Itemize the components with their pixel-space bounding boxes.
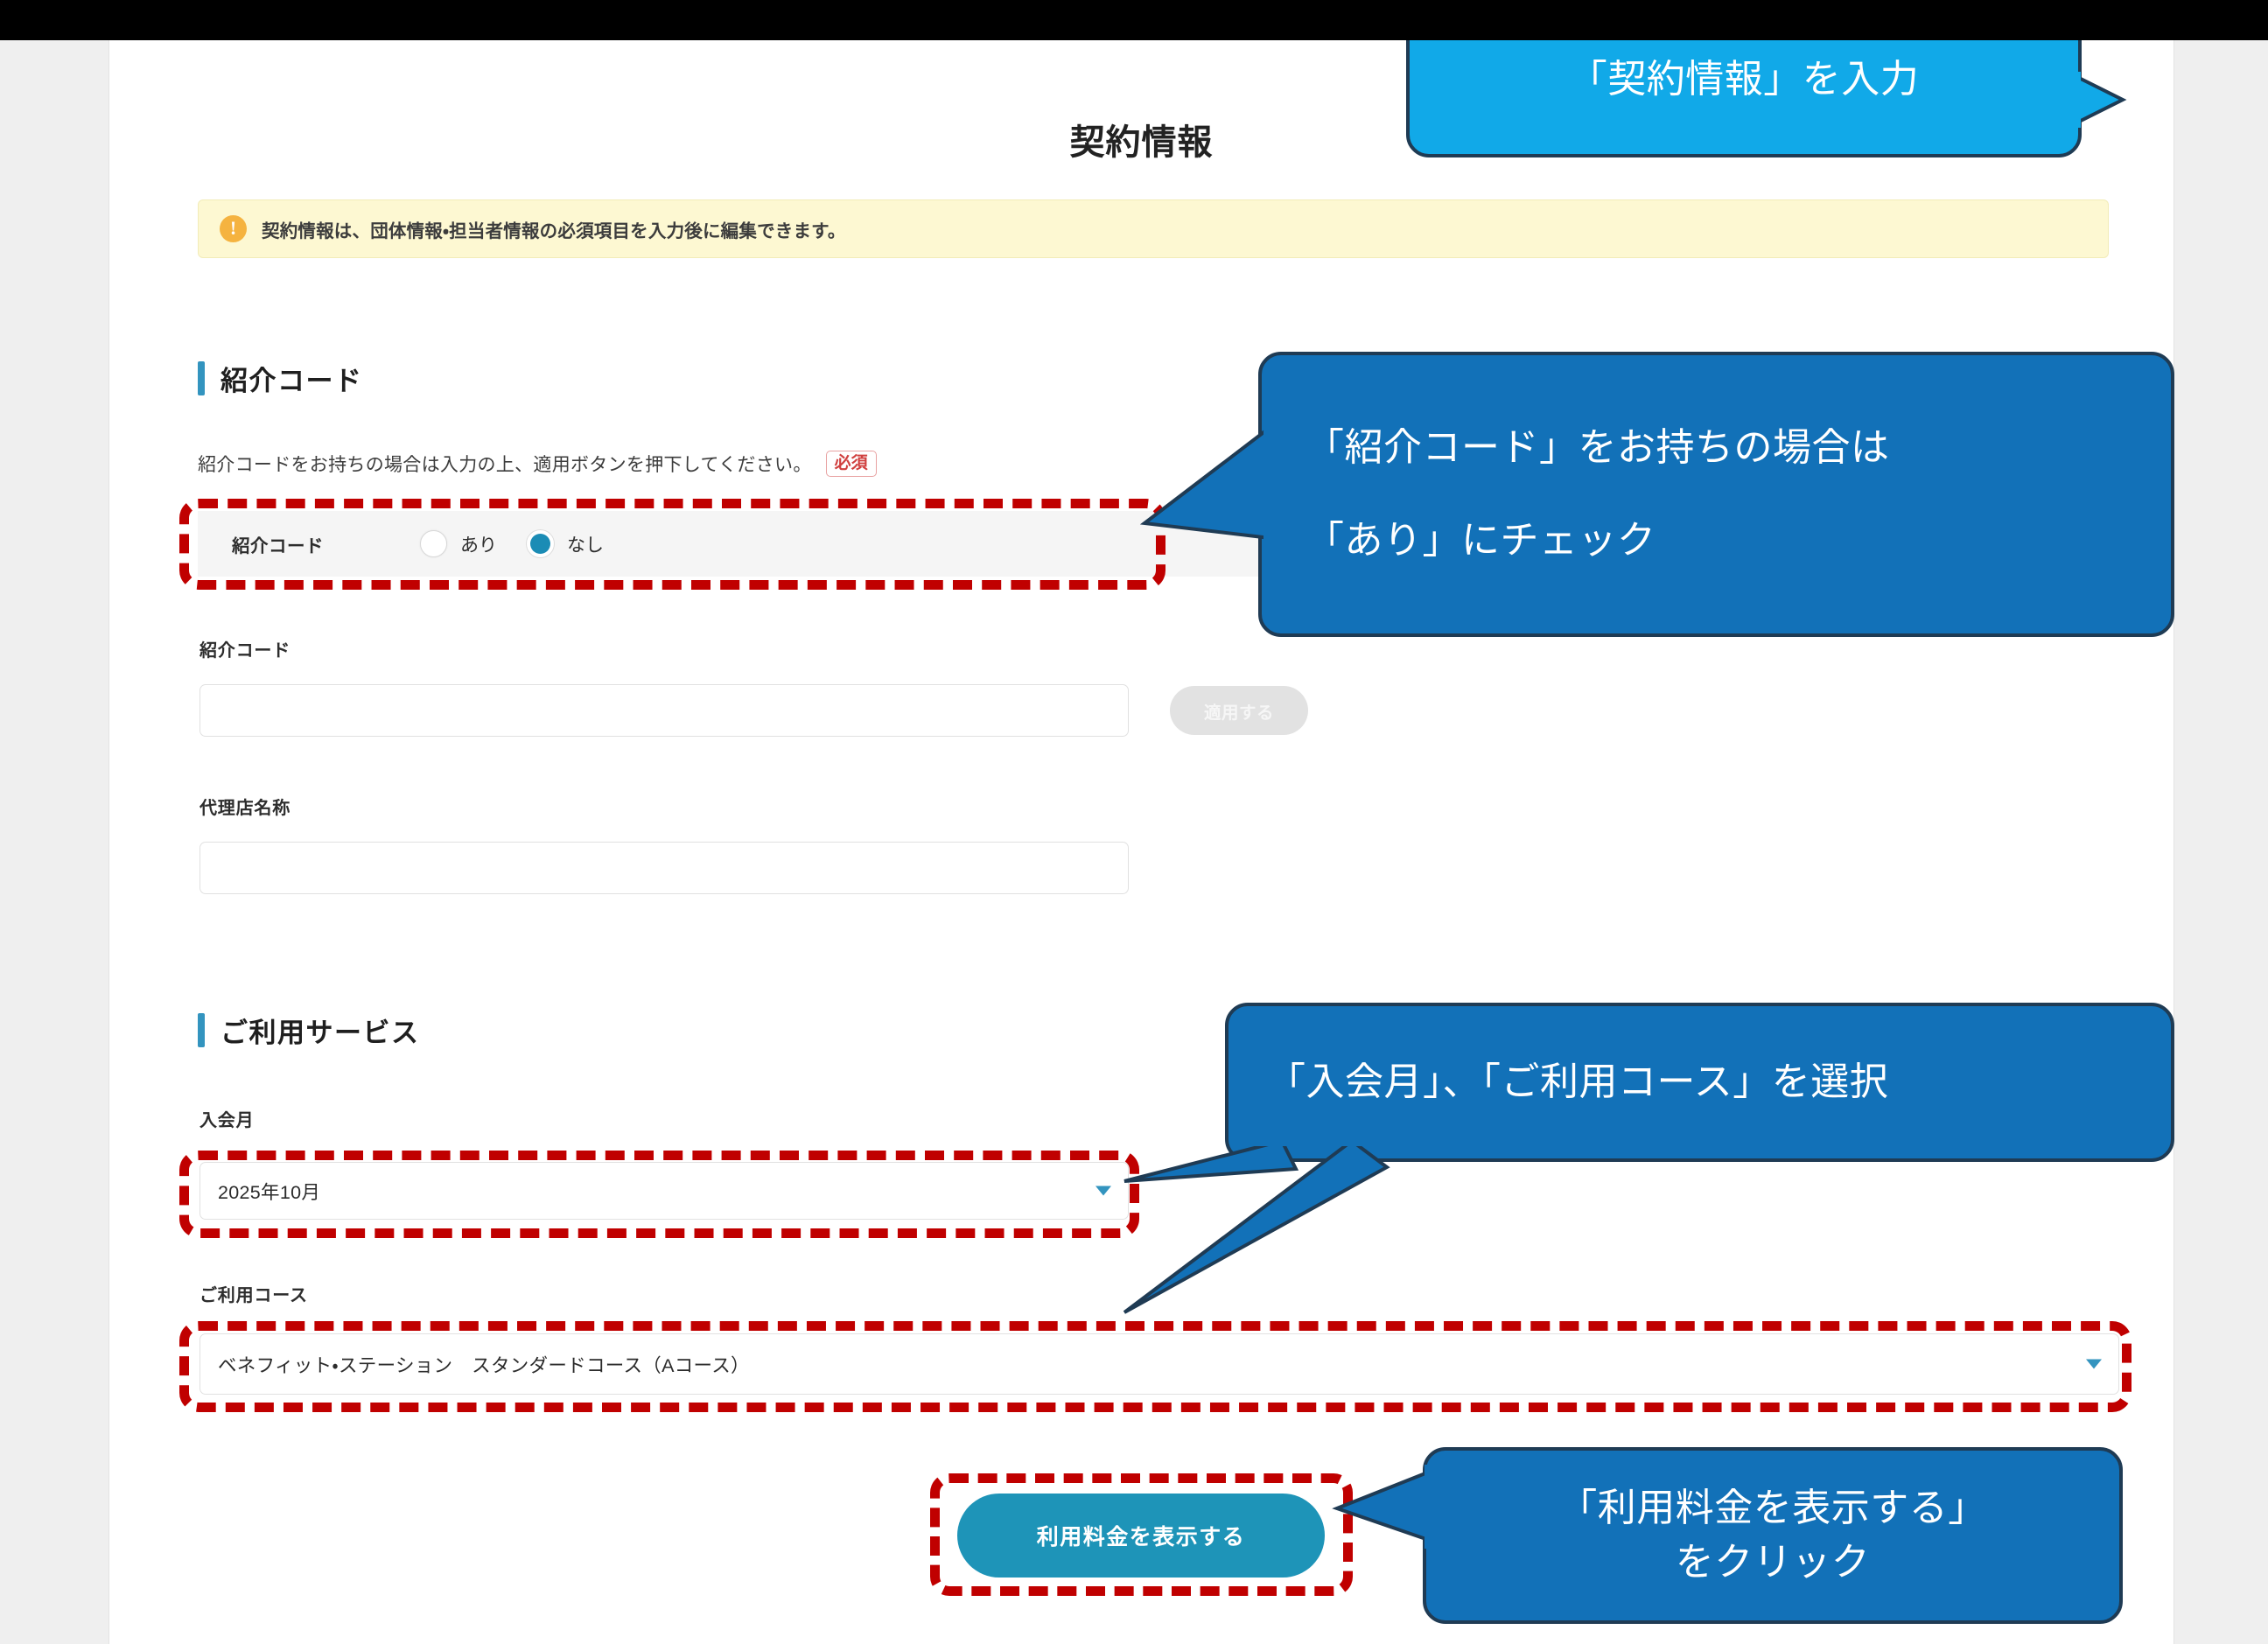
section-accent-bar-service (198, 1013, 205, 1047)
section-title-service: ご利用サービス (220, 1011, 420, 1050)
callout-click-show-fee-line-1: 「利用料金を表示する」 (1426, 1481, 2119, 1536)
info-notice-bar: ! 契約情報は、団体情報・担当者情報の必須項目を入力後に編集できます。 (198, 199, 2109, 258)
callout-click-show-fee: 「利用料金を表示する」 をクリック (1423, 1447, 2123, 1624)
radio-button-nashi[interactable] (527, 530, 554, 557)
callout-enter-contract-info-line-1: 「契約情報」を入力 (1410, 52, 2078, 107)
course-select-box[interactable]: ベネフィット・ステーション スタンダードコース（Aコース） (199, 1333, 2119, 1395)
apply-referral-code-button[interactable]: 適用する (1170, 686, 1308, 735)
referral-description-row: 紹介コードをお持ちの場合は入力の上、適用ボタンを押下してください。 必須 (198, 451, 877, 477)
course-selected-value: ベネフィット・ステーション スタンダードコース（Aコース） (218, 1351, 750, 1378)
browser-chrome-bar (0, 0, 2268, 40)
section-accent-bar (198, 361, 205, 395)
required-badge: 必須 (826, 451, 877, 477)
agency-name-input[interactable] (199, 842, 1129, 894)
callout-select-month-course: 「入会月」、「ご利用コース」を選択 (1225, 1003, 2174, 1162)
section-title-referral-code: 紹介コード (220, 359, 363, 398)
label-join-month: 入会月 (199, 1106, 254, 1131)
info-notice-text: 契約情報は、団体情報・担当者情報の必須項目を入力後に編集できます。 (262, 216, 846, 242)
callout-referral-check-line-2: 「あり」にチェック (1305, 514, 2171, 568)
referral-radio-row-label: 紹介コード (232, 531, 420, 557)
radio-label-ari: あり (460, 531, 497, 557)
radio-button-ari[interactable] (420, 530, 447, 557)
show-usage-fee-button[interactable]: 利用料金を表示する (957, 1494, 1325, 1578)
label-agency-name-input: 代理店名称 (199, 794, 290, 819)
chevron-down-icon-course[interactable] (2086, 1360, 2102, 1369)
radio-option-ari[interactable]: あり (420, 530, 497, 557)
chevron-down-icon[interactable] (1095, 1186, 1111, 1196)
join-month-select[interactable]: 2025年10月 (199, 1162, 1129, 1220)
label-referral-code-input: 紹介コード (199, 636, 290, 661)
join-month-selected-value: 2025年10月 (218, 1178, 320, 1205)
callout-select-month-course-line-1: 「入会月」、「ご利用コース」を選択 (1267, 1055, 2171, 1109)
label-course: ご利用コース (199, 1281, 308, 1306)
callout-referral-check: 「紹介コード」をお持ちの場合は 「あり」にチェック (1258, 352, 2174, 637)
exclamation-circle-icon: ! (220, 215, 247, 242)
callout-click-show-fee-line-2: をクリック (1426, 1536, 2119, 1590)
referral-code-input[interactable] (199, 684, 1129, 737)
section-heading-referral-code: 紹介コード (198, 359, 363, 398)
section-heading-service: ご利用サービス (198, 1011, 420, 1050)
radio-option-nashi[interactable]: なし (527, 530, 604, 557)
referral-code-radio-row: 紹介コード あり なし (198, 511, 1353, 577)
radio-label-nashi: なし (567, 531, 604, 557)
referral-description-text: 紹介コードをお持ちの場合は入力の上、適用ボタンを押下してください。 (198, 451, 812, 477)
join-month-select-box[interactable]: 2025年10月 (199, 1162, 1129, 1220)
callout-referral-check-line-1: 「紹介コード」をお持ちの場合は (1305, 421, 2171, 475)
course-select[interactable]: ベネフィット・ステーション スタンダードコース（Aコース） (199, 1333, 2119, 1395)
